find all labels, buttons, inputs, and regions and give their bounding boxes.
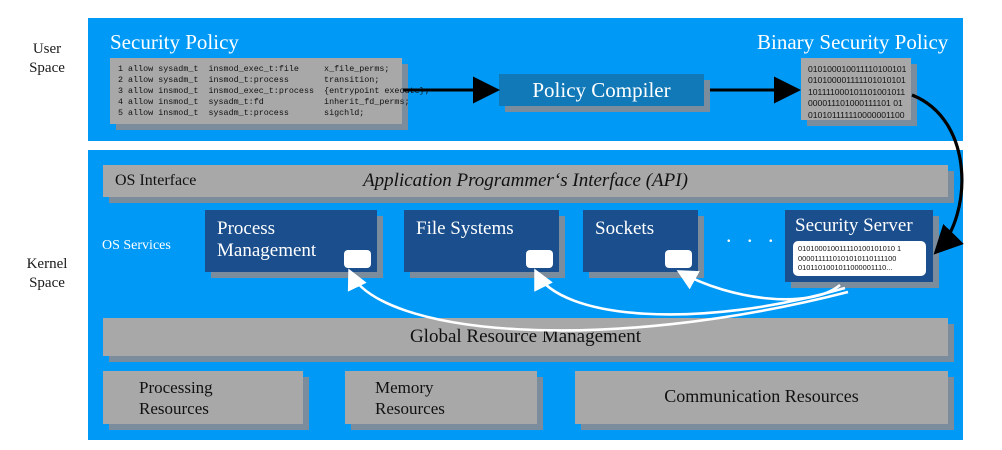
arrow-security-server-to-process-management xyxy=(350,272,848,330)
arrows-overlay xyxy=(0,0,1002,450)
arrow-binary-to-security-server xyxy=(912,95,962,250)
architecture-diagram: User Space Kernel Space Security Policy … xyxy=(0,0,1002,450)
